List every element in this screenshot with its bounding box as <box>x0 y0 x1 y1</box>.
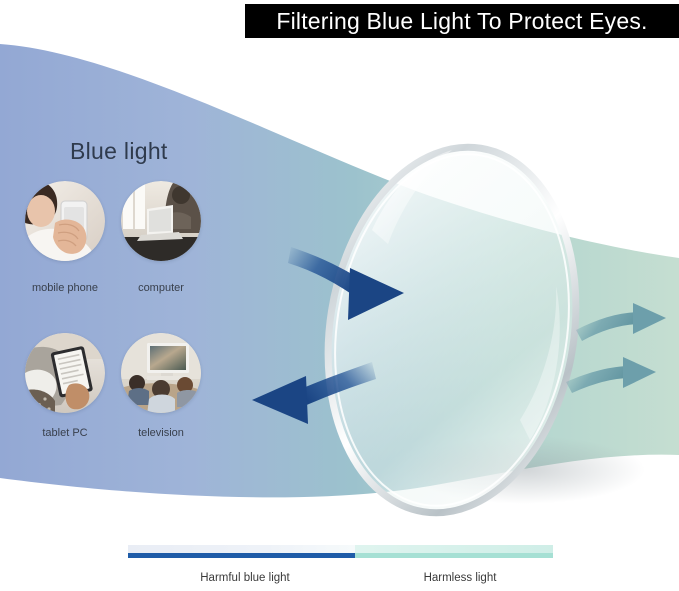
harmless-light-passthrough-arrow <box>576 303 666 341</box>
light-ray-arrows <box>0 0 679 591</box>
device-label-tablet-pc: tablet PC <box>15 427 115 439</box>
television-photo <box>121 333 201 413</box>
device-label-computer: computer <box>111 282 211 294</box>
harmless-light-passthrough-arrow-2 <box>566 357 656 393</box>
mobile-phone-photo <box>25 181 105 261</box>
blue-light-incoming-arrow <box>288 247 404 320</box>
legend-label-harmless: Harmless light <box>375 572 545 584</box>
eyeglass-lens <box>0 0 679 591</box>
infographic-poster: Filtering Blue Light To Protect Eyes. Bl… <box>0 0 679 591</box>
legend-label-harmful: Harmful blue light <box>160 572 330 584</box>
device-label-mobile-phone: mobile phone <box>15 282 115 294</box>
tablet-pc-photo <box>25 333 105 413</box>
blue-light-heading: Blue light <box>70 138 168 165</box>
background-band <box>0 0 679 591</box>
light-spectrum-legend-bar <box>128 545 553 558</box>
device-label-television: television <box>111 427 211 439</box>
page-title: Filtering Blue Light To Protect Eyes. <box>276 8 647 35</box>
computer-photo <box>121 181 201 261</box>
blue-light-blocked-arrow <box>252 362 376 424</box>
title-banner: Filtering Blue Light To Protect Eyes. <box>245 4 679 38</box>
